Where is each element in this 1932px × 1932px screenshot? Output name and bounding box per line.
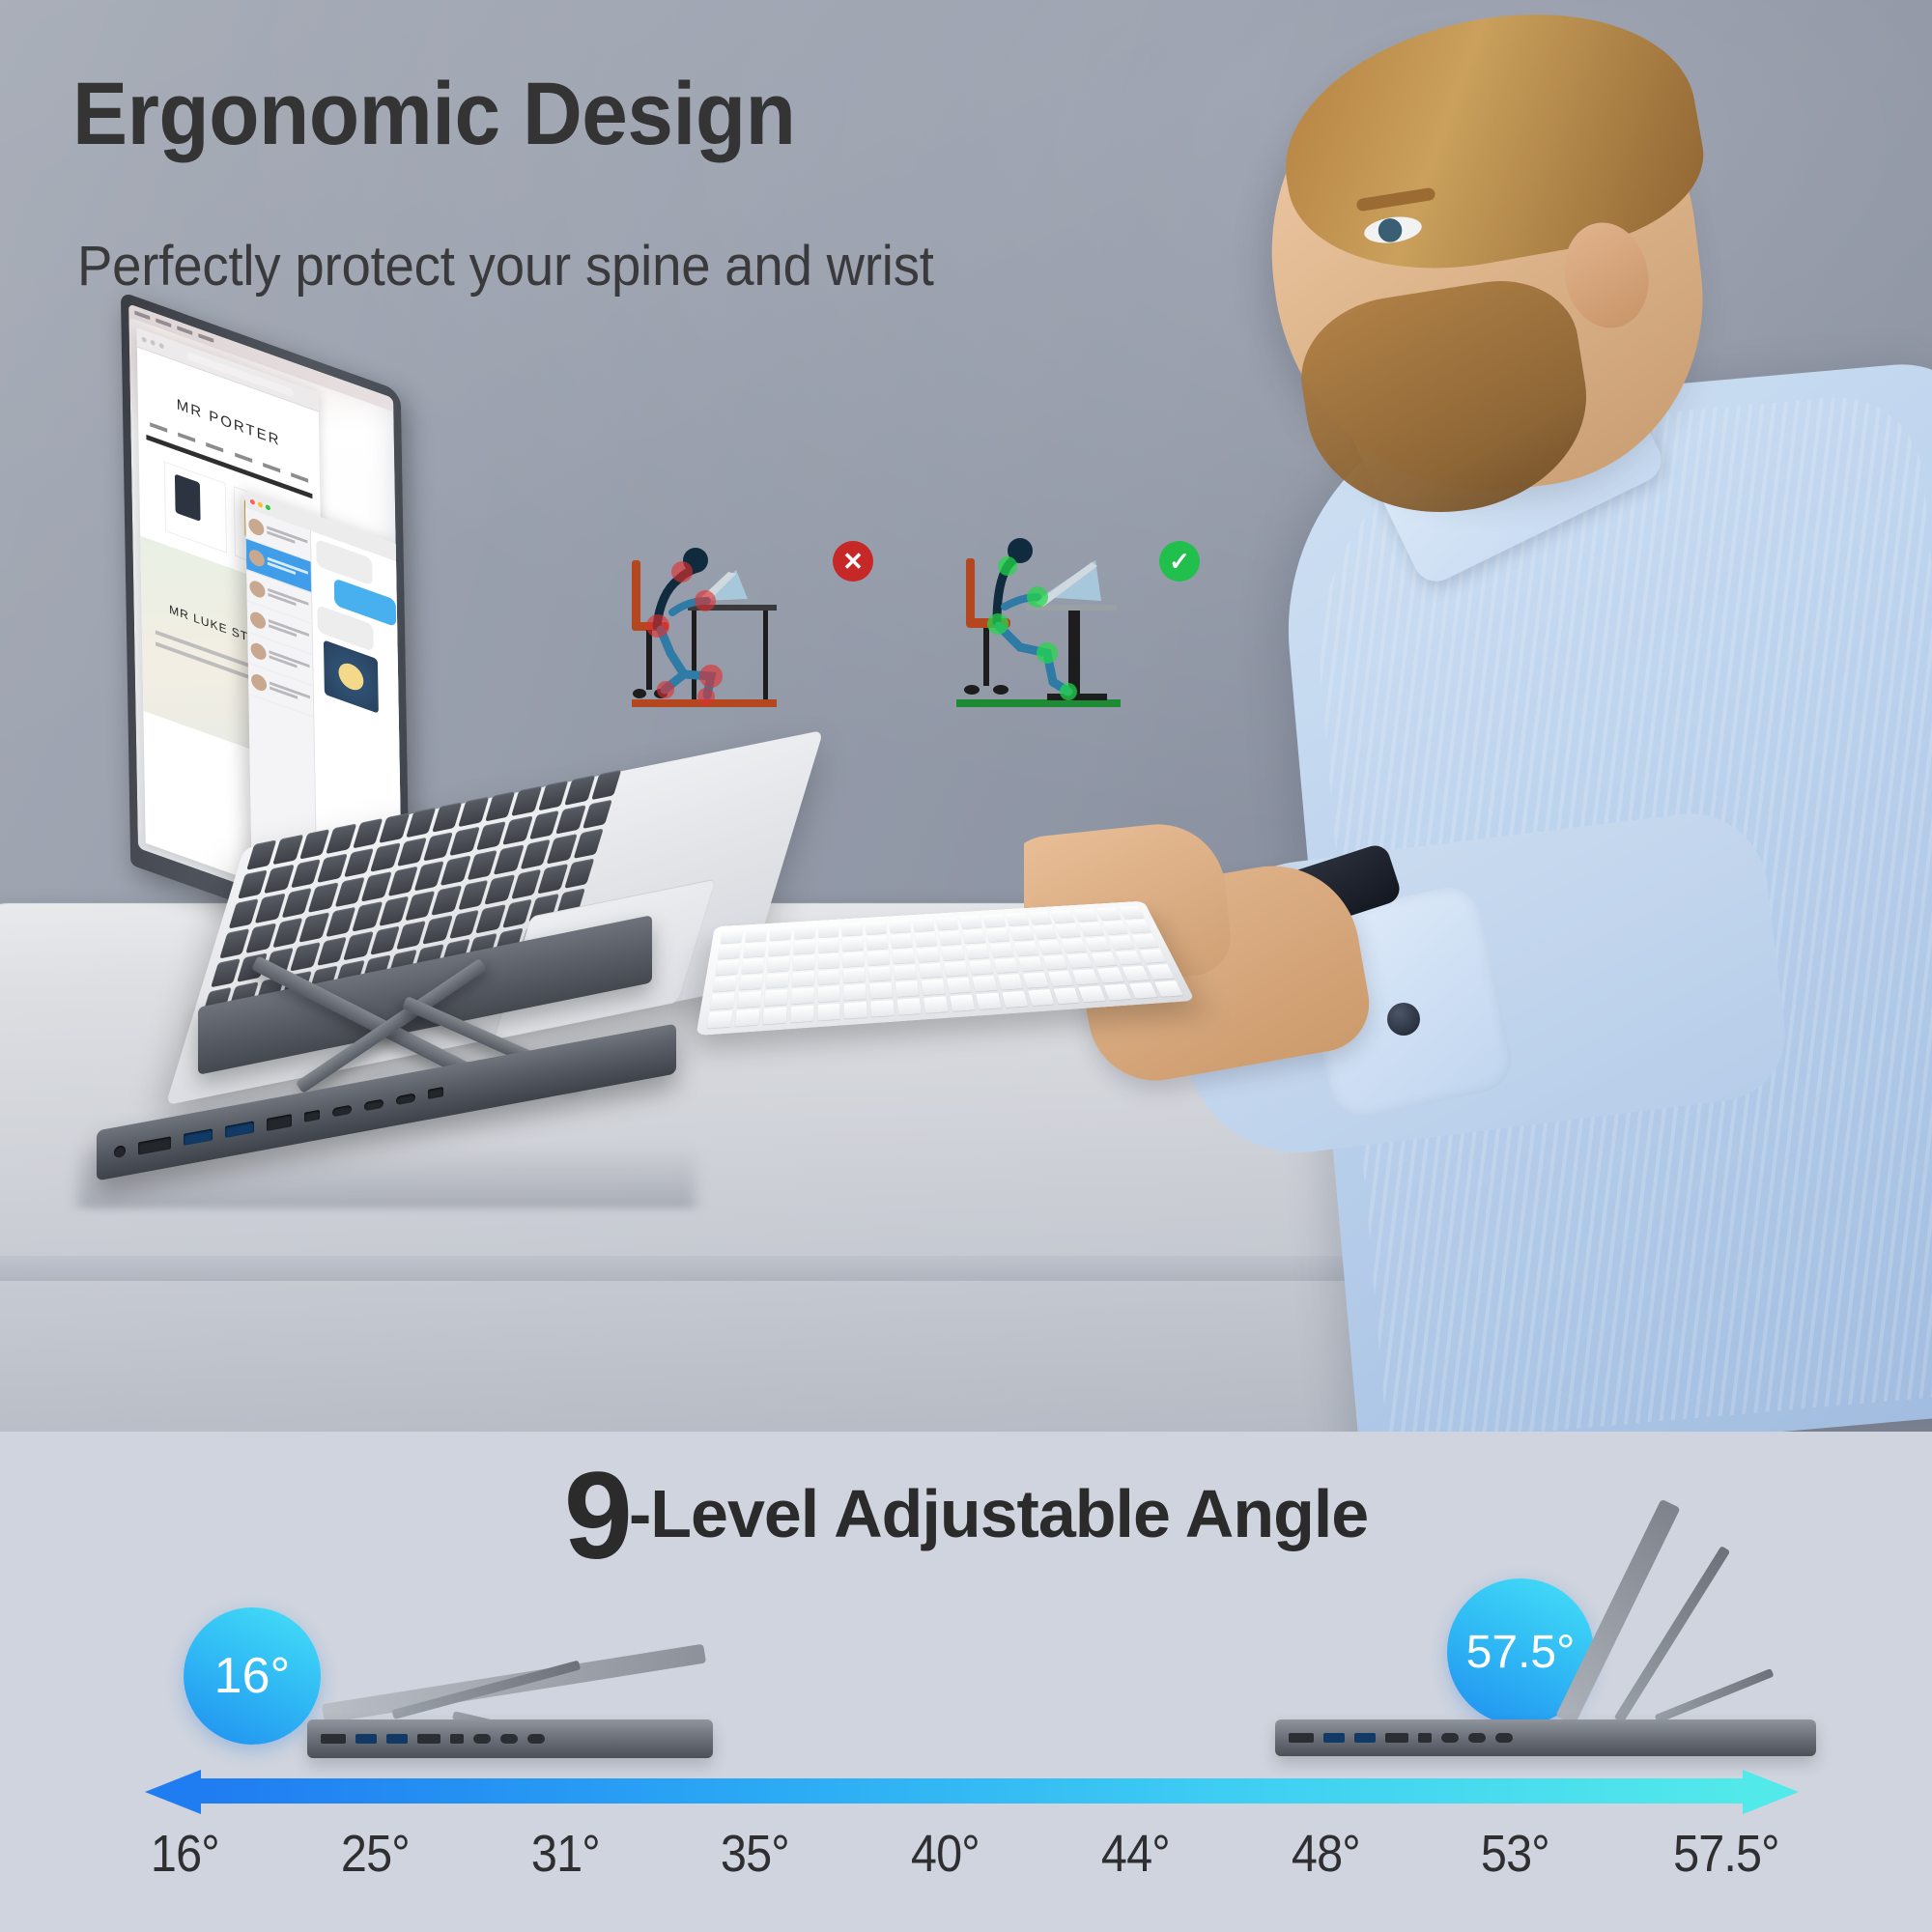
angle-tick: 44°: [1101, 1824, 1170, 1884]
tf-card-slot: [450, 1734, 464, 1744]
angle-range-arrow: [145, 1770, 1799, 1814]
usb-c-port: [364, 1098, 384, 1111]
window-close-icon: [250, 498, 255, 505]
product-card: [164, 461, 227, 553]
list-item-text: [268, 587, 308, 611]
usb-a-port: [355, 1734, 377, 1744]
nav-item: [206, 442, 223, 452]
usb-c-port: [396, 1093, 415, 1105]
usb-a-port: [184, 1128, 213, 1146]
bad-posture-illustration: [628, 529, 811, 723]
avatar: [249, 579, 265, 600]
hdmi-port: [321, 1734, 346, 1744]
angle-tick: 16°: [151, 1824, 219, 1884]
usb-a-port: [386, 1734, 408, 1744]
sd-card-slot: [417, 1734, 440, 1744]
cuff-button: [1387, 1003, 1420, 1036]
menubar-item: [198, 333, 213, 343]
window-zoom-icon: [159, 343, 164, 350]
min-angle-badge: 16°: [184, 1607, 321, 1745]
audio-jack-port: [114, 1145, 126, 1158]
hero-panel: Ergonomic Design Perfectly protect your …: [0, 0, 1932, 1432]
arrow-head-right-icon: [1743, 1770, 1799, 1814]
tf-card-slot: [304, 1110, 320, 1122]
usb-c-port: [1468, 1733, 1486, 1743]
stand-illustration-high-angle: [1565, 1503, 1855, 1756]
list-item-text: [267, 526, 307, 550]
power-delivery-port: [428, 1087, 443, 1099]
avatar: [249, 547, 265, 568]
menubar-item: [177, 326, 192, 335]
arrow-shaft: [199, 1778, 1745, 1804]
nav-item: [235, 452, 252, 462]
menubar-app-name: [134, 311, 150, 321]
stand-base-with-hub: [1275, 1719, 1816, 1756]
angle-tick: 53°: [1481, 1824, 1549, 1884]
nav-item: [263, 463, 280, 472]
angle-tick: 35°: [721, 1824, 789, 1884]
menubar-item: [156, 318, 171, 327]
stand-illustration-low-angle: [307, 1615, 732, 1758]
usb-a-port: [1323, 1733, 1345, 1743]
usb-c-port: [332, 1104, 352, 1117]
page-subtitle: Perfectly protect your spine and wrist: [77, 239, 934, 295]
usb-c-port: [1495, 1733, 1513, 1743]
window-minimize-icon: [258, 501, 263, 508]
arrow-head-left-icon: [145, 1770, 201, 1814]
list-item-text: [269, 619, 309, 643]
usb-c-port: [527, 1734, 545, 1744]
angle-scale: 16° 25° 31° 35° 40° 44° 48° 53° 57.5°: [0, 1824, 1932, 1884]
usb-c-port: [473, 1734, 491, 1744]
list-item-text: [268, 556, 308, 581]
nav-item: [178, 433, 195, 442]
nav-item: [291, 472, 308, 482]
hdmi-port: [138, 1136, 171, 1154]
tf-card-slot: [1418, 1733, 1432, 1743]
angle-tick: 40°: [911, 1824, 980, 1884]
nav-item: [150, 422, 167, 432]
window-close-icon: [142, 336, 147, 343]
page-title: Ergonomic Design: [72, 70, 795, 158]
usb-c-port: [1441, 1733, 1459, 1743]
person-photo: [1024, 0, 1932, 1432]
stand-lid-panel: [1555, 1499, 1680, 1725]
usb-a-port: [225, 1121, 254, 1138]
angle-tick: 25°: [341, 1824, 410, 1884]
stand-base-with-hub: [307, 1719, 713, 1758]
list-item-text: [269, 650, 309, 674]
sd-card-slot: [1385, 1733, 1408, 1743]
x-mark-icon: ✕: [833, 541, 873, 582]
window-zoom-icon: [266, 503, 270, 510]
avatar: [250, 610, 266, 631]
stand-brace: [1655, 1668, 1775, 1723]
headline-text: -Level Adjustable Angle: [629, 1476, 1368, 1551]
avatar: [251, 671, 267, 693]
sd-card-slot: [267, 1114, 292, 1131]
avatar: [248, 516, 264, 537]
avatar: [250, 640, 266, 662]
angle-tick: 31°: [530, 1824, 599, 1884]
hdmi-port: [1289, 1733, 1314, 1743]
message-image-attachment: [324, 639, 379, 713]
angle-tick: 48°: [1292, 1824, 1360, 1884]
window-minimize-icon: [151, 339, 156, 346]
headline-number: 9: [564, 1447, 629, 1585]
list-item-text: [270, 681, 310, 705]
usb-a-port: [1354, 1733, 1376, 1743]
usb-c-port: [500, 1734, 518, 1744]
angle-tick: 57.5°: [1673, 1824, 1779, 1884]
